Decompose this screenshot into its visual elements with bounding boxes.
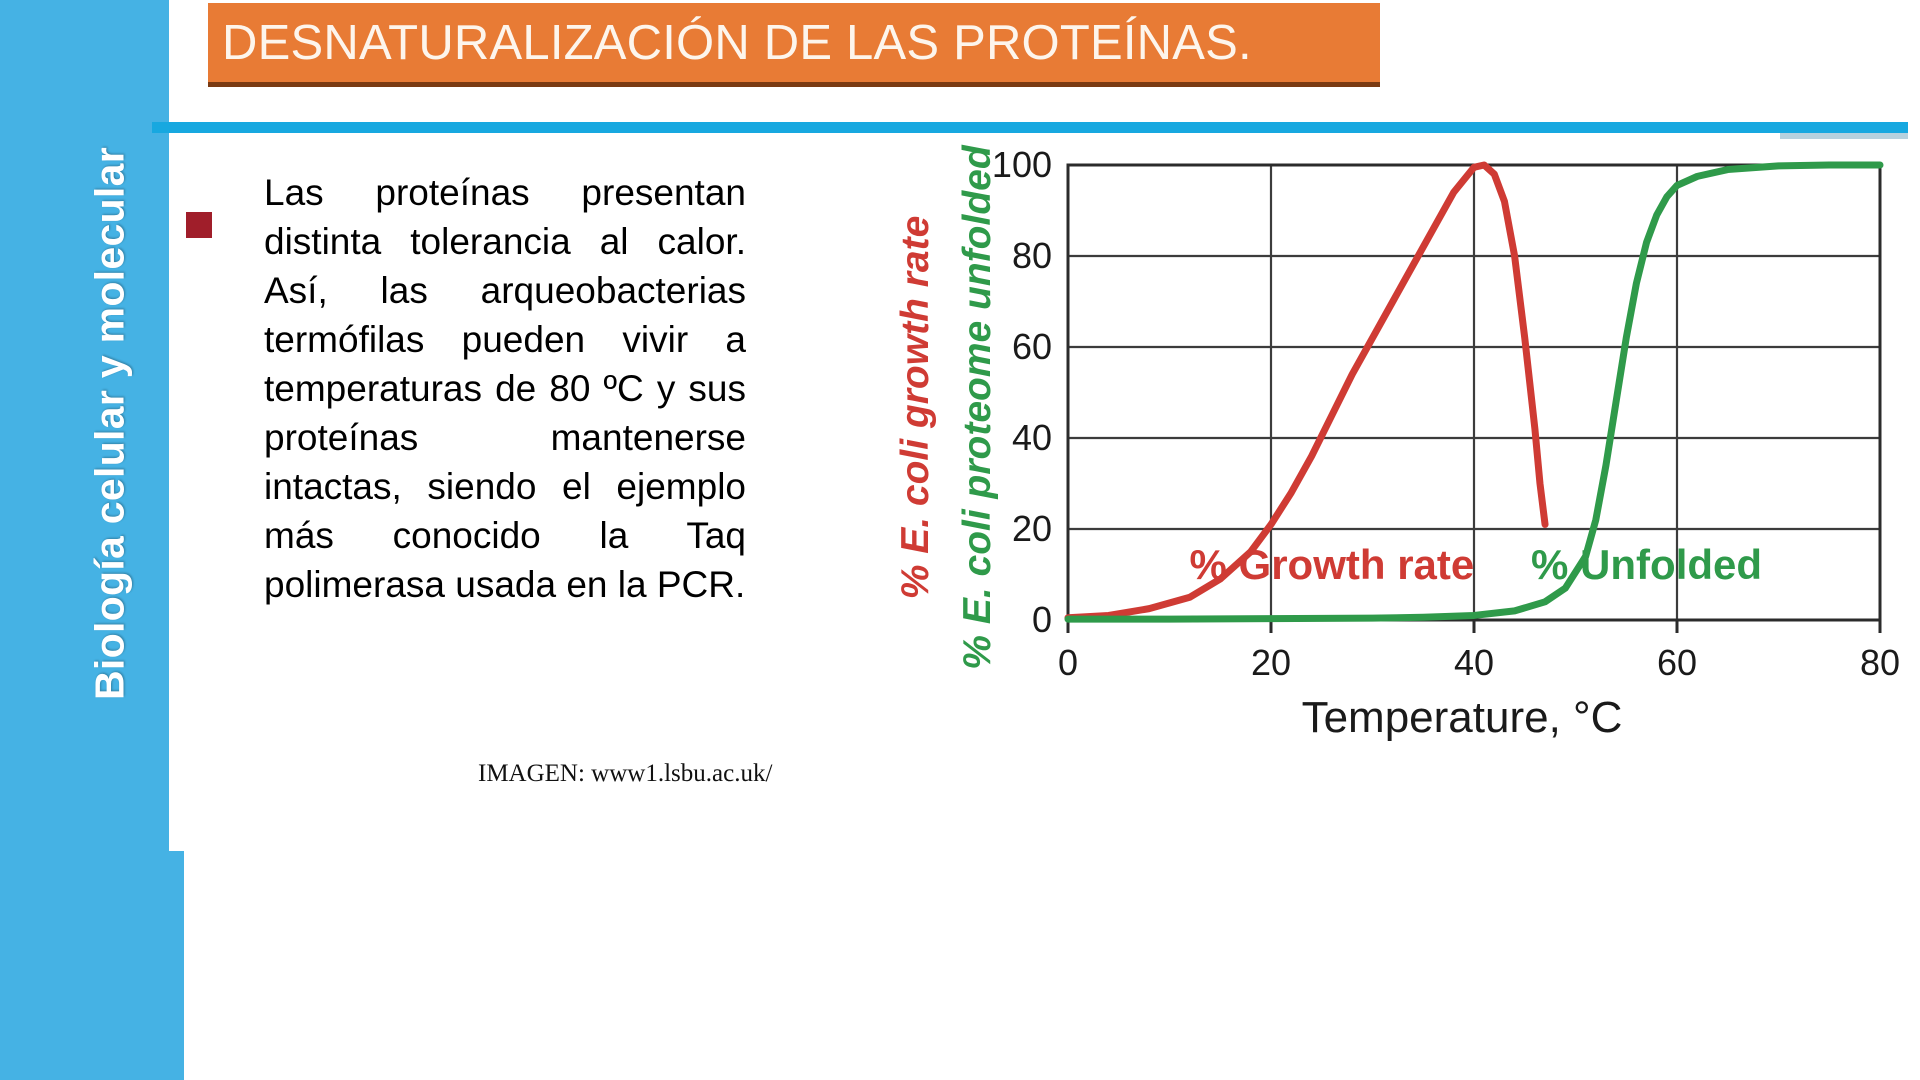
sidebar-panel-top: [0, 0, 169, 851]
bullet-list-item: Las proteínas presentan distinta toleran…: [186, 168, 746, 609]
page-title: DESNATURALIZACIÓN DE LAS PROTEÍNAS.: [222, 15, 1252, 71]
title-banner: DESNATURALIZACIÓN DE LAS PROTEÍNAS.: [208, 3, 1380, 87]
chart-ytick-label: 40: [1012, 417, 1052, 458]
chart-xtick-label: 80: [1860, 642, 1900, 683]
chart-ytick-label: 80: [1012, 235, 1052, 276]
chart-ytick-label: 20: [1012, 508, 1052, 549]
chart-ytick-label: 60: [1012, 326, 1052, 367]
body-paragraph: Las proteínas presentan distinta toleran…: [264, 168, 746, 609]
chart-legend-label: % Growth rate: [1190, 541, 1475, 588]
chart-xtick-label: 0: [1058, 642, 1078, 683]
denaturation-chart: 020406080100020406080Temperature, °C% E.…: [890, 130, 1920, 830]
chart-legend-label: % Unfolded: [1531, 541, 1762, 588]
chart-xtick-label: 40: [1454, 642, 1494, 683]
chart-xtick-label: 60: [1657, 642, 1697, 683]
chart-yaxis-title-unfolded: % E. coli proteome unfolded: [956, 144, 999, 670]
chart-yaxis-title-growth: % E. coli growth rate: [894, 216, 937, 600]
sidebar-title: Biología celular y molecular: [87, 14, 134, 834]
chart-ytick-label: 0: [1032, 599, 1052, 640]
chart-xtick-label: 20: [1251, 642, 1291, 683]
chart-xaxis-title: Temperature, °C: [1302, 693, 1623, 742]
bullet-square-icon: [186, 212, 212, 238]
sidebar: Biología celular y molecular: [0, 0, 200, 1080]
chart-ytick-label: 100: [992, 144, 1052, 185]
image-credit: IMAGEN: www1.lsbu.ac.uk/: [478, 760, 772, 788]
chart-svg: 020406080100020406080Temperature, °C% E.…: [890, 130, 1920, 830]
sidebar-panel-bottom: [0, 851, 184, 1080]
